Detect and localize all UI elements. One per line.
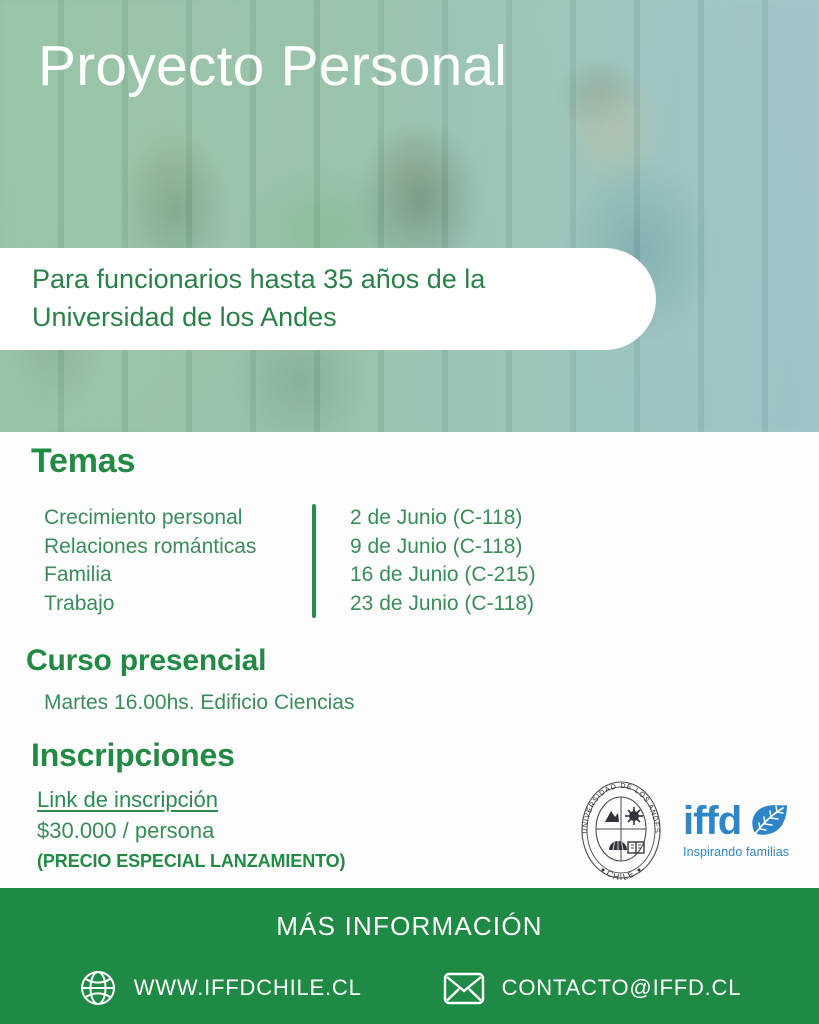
list-item: 2 de Junio (C-118) bbox=[350, 504, 536, 533]
iffd-wordmark: iffd bbox=[683, 801, 741, 841]
curso-heading: Curso presencial bbox=[26, 644, 266, 678]
hero-section: Proyecto Personal bbox=[0, 0, 819, 432]
footer-email-label: CONTACTO@IFFD.CL bbox=[502, 975, 742, 1001]
audience-banner: Para funcionarios hasta 35 años de la Un… bbox=[0, 248, 656, 350]
svg-text:CHILE: CHILE bbox=[605, 868, 637, 880]
footer-website-label: WWW.IFFDCHILE.CL bbox=[134, 975, 362, 1001]
price-text: $30.000 / persona bbox=[37, 818, 214, 844]
registration-link[interactable]: Link de inscripción bbox=[37, 787, 218, 813]
poster: Proyecto Personal Para funcionarios hast… bbox=[0, 0, 819, 1024]
temas-heading: Temas bbox=[31, 442, 135, 481]
temas-table: Crecimiento personal Relaciones romántic… bbox=[44, 504, 536, 618]
footer-title: MÁS INFORMACIÓN bbox=[0, 911, 819, 942]
footer-website-item[interactable]: WWW.IFFDCHILE.CL bbox=[78, 968, 362, 1008]
uandes-seal-bottom-text: CHILE bbox=[605, 868, 637, 880]
list-item: Crecimiento personal bbox=[44, 504, 312, 533]
list-item: Relaciones románticas bbox=[44, 533, 312, 562]
list-item: 9 de Junio (C-118) bbox=[350, 533, 536, 562]
footer-contacts: WWW.IFFDCHILE.CL CONTACTO@IFFD.CL bbox=[0, 968, 819, 1008]
list-item: Familia bbox=[44, 561, 312, 590]
curso-detail: Martes 16.00hs. Edificio Ciencias bbox=[44, 691, 354, 715]
globe-icon bbox=[78, 968, 118, 1008]
leaf-icon bbox=[747, 803, 789, 839]
list-item: 23 de Junio (C-118) bbox=[350, 590, 536, 619]
temas-topics-column: Crecimiento personal Relaciones romántic… bbox=[44, 504, 312, 618]
footer-email-item[interactable]: CONTACTO@IFFD.CL bbox=[442, 968, 742, 1008]
iffd-logo-row: iffd bbox=[683, 801, 789, 841]
audience-banner-text: Para funcionarios hasta 35 años de la Un… bbox=[0, 261, 525, 337]
list-item: 16 de Junio (C-215) bbox=[350, 561, 536, 590]
page-title: Proyecto Personal bbox=[38, 34, 507, 100]
vertical-divider bbox=[312, 504, 316, 618]
inscripciones-heading: Inscripciones bbox=[31, 737, 235, 774]
footer: MÁS INFORMACIÓN WWW.IFFDCHILE.CL bbox=[0, 888, 819, 1024]
logo-row: UNIVERSIDAD DE LOS ANDES CHILE iffd bbox=[575, 778, 805, 882]
uandes-seal-logo: UNIVERSIDAD DE LOS ANDES CHILE bbox=[575, 780, 667, 880]
list-item: Trabajo bbox=[44, 590, 312, 619]
iffd-logo: iffd Inspirando famil bbox=[683, 801, 789, 859]
audience-banner-line1: Para funcionarios hasta 35 años de la bbox=[32, 261, 485, 299]
temas-dates-column: 2 de Junio (C-118) 9 de Junio (C-118) 16… bbox=[350, 504, 536, 618]
iffd-tagline: Inspirando familias bbox=[683, 845, 789, 859]
envelope-icon bbox=[442, 969, 486, 1007]
audience-banner-line2: Universidad de los Andes bbox=[32, 299, 485, 337]
price-note: (PRECIO ESPECIAL LANZAMIENTO) bbox=[37, 851, 345, 872]
